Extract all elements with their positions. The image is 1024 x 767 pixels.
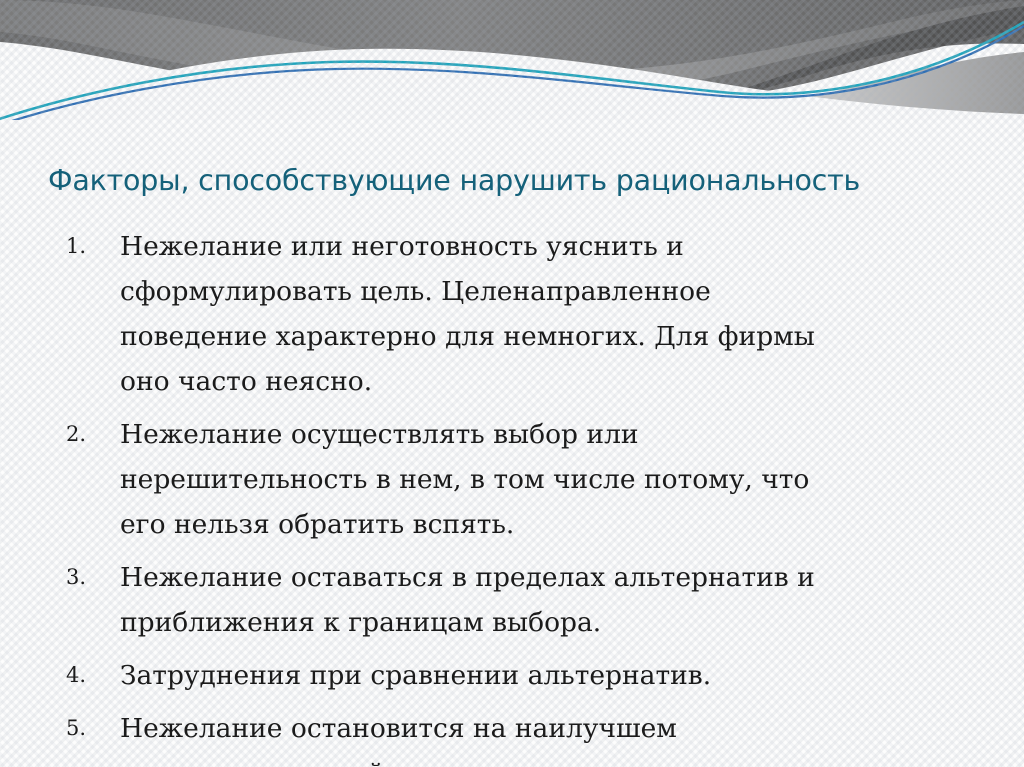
list-item: 2. Нежелание осуществлять выбор или нере…: [52, 412, 1012, 547]
list-item-number: 4.: [52, 653, 120, 698]
list-item-number: 2.: [52, 412, 120, 457]
list-item-text: Нежелание оставаться в пределах альтерна…: [120, 555, 820, 645]
list-item-number: 1.: [52, 224, 120, 269]
numbered-list: 1. Нежелание или неготовность уяснить и …: [52, 224, 1012, 767]
list-item-number: 3.: [52, 555, 120, 600]
list-item-text: Затруднения при сравнении альтернатив.: [120, 653, 820, 698]
list-item: 1. Нежелание или неготовность уяснить и …: [52, 224, 1012, 404]
presentation-slide: Факторы, способствующие нарушить рациона…: [0, 0, 1024, 767]
list-item: 5. Нежелание остановится на наилучшем ва…: [52, 706, 1012, 767]
list-item-text: Нежелание или неготовность уяснить и сфо…: [120, 224, 820, 404]
list-item-number: 5.: [52, 706, 120, 751]
list-item-text: Нежелание осуществлять выбор или нерешит…: [120, 412, 820, 547]
list-item: 3. Нежелание оставаться в пределах альте…: [52, 555, 1012, 645]
list-item: 4. Затруднения при сравнении альтернатив…: [52, 653, 1012, 698]
slide-content: Факторы, способствующие нарушить рациона…: [0, 0, 1024, 767]
list-item-text: Нежелание остановится на наилучшем вариа…: [120, 706, 820, 767]
page-title: Факторы, способствующие нарушить рациона…: [48, 164, 988, 197]
